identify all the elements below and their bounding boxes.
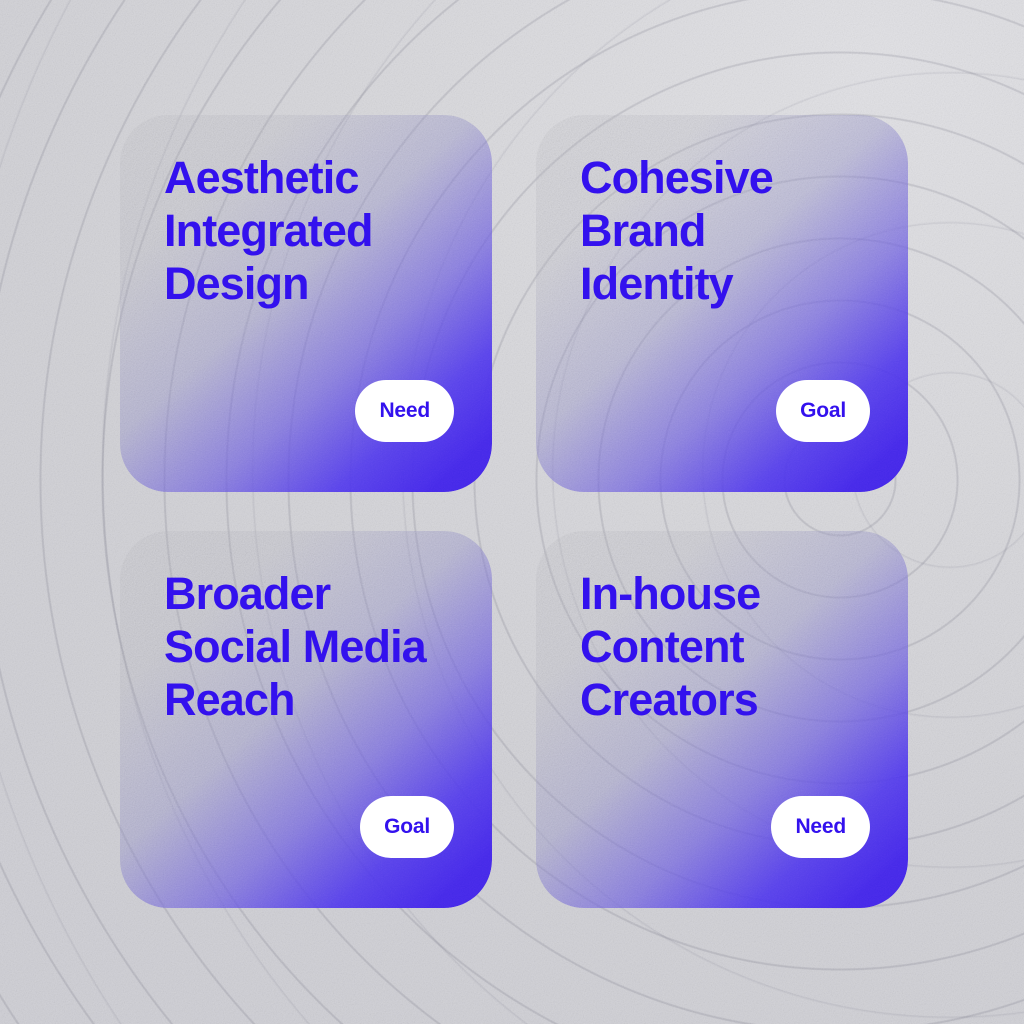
status-badge[interactable]: Need — [355, 380, 454, 442]
card-in-house-content-creators[interactable]: In-house Content Creators Need — [536, 531, 908, 908]
card-title: Broader Social Media Reach — [164, 567, 470, 726]
status-badge[interactable]: Need — [771, 796, 870, 858]
status-badge[interactable]: Goal — [776, 380, 870, 442]
card-broader-social-media-reach[interactable]: Broader Social Media Reach Goal — [120, 531, 492, 908]
card-title: Aesthetic Integrated Design — [164, 151, 470, 310]
card-grid: Aesthetic Integrated Design Need Cohesiv… — [120, 115, 908, 908]
card-title: Cohesive Brand Identity — [580, 151, 886, 310]
card-cohesive-brand-identity[interactable]: Cohesive Brand Identity Goal — [536, 115, 908, 492]
status-badge[interactable]: Goal — [360, 796, 454, 858]
card-title: In-house Content Creators — [580, 567, 886, 726]
card-aesthetic-integrated-design[interactable]: Aesthetic Integrated Design Need — [120, 115, 492, 492]
poster-canvas: Aesthetic Integrated Design Need Cohesiv… — [0, 0, 1024, 1024]
